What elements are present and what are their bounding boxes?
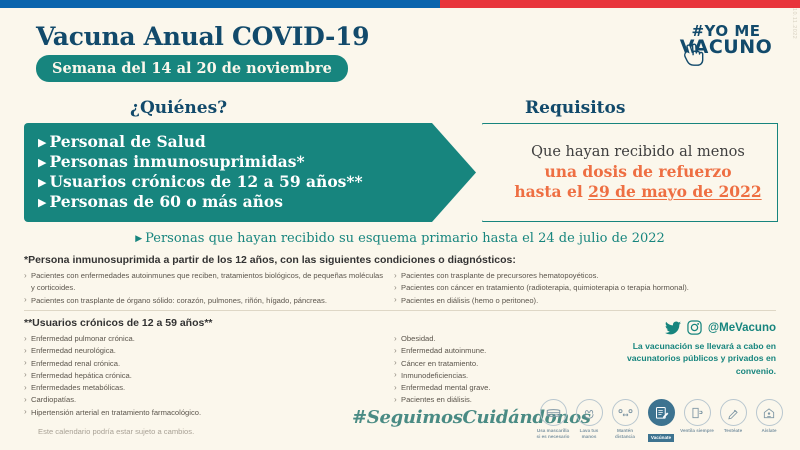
prevention-label-isolate: Aíslate: [752, 428, 786, 434]
arrow-bullet-icon: ▶: [38, 156, 46, 169]
quienes-list: ▶Personal de Salud ▶Personas inmunosupri…: [38, 132, 476, 213]
arrow-bullet-icon: ▶: [38, 176, 46, 189]
flag-bar: [0, 0, 800, 8]
list-item: Enfermedad mental grave.: [394, 382, 776, 394]
social-header: @MeVacuno: [616, 320, 776, 335]
prevention-item-test: Testéate: [716, 399, 750, 434]
prevention-item-vaccinate: Vacúnate: [644, 399, 678, 444]
prevention-item-distance: Mantén distancia: [608, 399, 642, 439]
ventilate-icon: [684, 399, 711, 426]
isolate-icon: [756, 399, 783, 426]
test-icon: [720, 399, 747, 426]
list-item: Pacientes con trasplante de órgano sólid…: [24, 295, 384, 307]
flag-blue-segment: [0, 0, 440, 8]
arrow-bullet-icon: ▶: [135, 234, 142, 244]
requisitos-line3-prefix: hasta el: [514, 182, 588, 201]
date-stamp: 10.11.2022: [791, 8, 797, 39]
footnote-divider: [24, 310, 776, 311]
vaccination-location-note: La vacunación se llevará a cabo en vacun…: [616, 340, 776, 377]
footnote-immuno-right-column: Pacientes con trasplante de precursores …: [394, 270, 776, 307]
footnote-immuno-columns: Pacientes con enfermedades autoinmunes q…: [24, 270, 776, 307]
distance-icon: [612, 399, 639, 426]
prevention-item-mask: Usa mascarilla si es necesario: [536, 399, 570, 439]
list-item: ▶Personal de Salud: [38, 132, 476, 152]
quienes-heading: ¿Quiénes?: [130, 98, 227, 118]
quienes-item-3: Personas de 60 o más años: [49, 192, 283, 211]
footnote-immuno-left-column: Pacientes con enfermedades autoinmunes q…: [24, 270, 384, 307]
list-item: Enfermedad renal crónica.: [24, 358, 384, 370]
list-item: Pacientes en diálisis (hemo o peritoneo)…: [394, 295, 776, 307]
mask-icon: [540, 399, 567, 426]
list-item: ▶Usuarios crónicos de 12 a 59 años**: [38, 172, 476, 192]
quienes-item-2: Usuarios crónicos de 12 a 59 años**: [49, 172, 362, 191]
yo-me-vacuno-logo: #YO ME VACUNO: [674, 24, 778, 57]
primary-scheme-note: ▶Personas que hayan recibido su esquema …: [0, 231, 800, 246]
requisitos-deadline-date: 29 de mayo de 2022: [588, 182, 761, 201]
requisitos-line2: una dosis de refuerzo: [544, 162, 731, 182]
list-item: ▶Personas de 60 o más años: [38, 192, 476, 212]
prevention-label-wash-hands: Lava tus manos: [572, 428, 606, 439]
prevention-icon-row: Usa mascarilla si es necesario Lava tus …: [536, 399, 786, 444]
vaccinate-icon: [648, 399, 675, 426]
week-badge: Semana del 14 al 20 de noviembre: [36, 55, 348, 82]
list-item: Enfermedad hepática crónica.: [24, 370, 384, 382]
social-handle[interactable]: @MeVacuno: [708, 322, 776, 334]
prevention-label-ventilate: Ventila siempre: [680, 428, 714, 434]
arrow-bullet-icon: ▶: [38, 136, 46, 149]
quienes-arrow-panel: ▶Personal de Salud ▶Personas inmunosupri…: [24, 123, 476, 222]
page-title: Vacuna Anual COVID-19: [36, 22, 369, 51]
footnote-chronic-left-column: Enfermedad pulmonar crónica. Enfermedad …: [24, 333, 384, 419]
footnote-immuno-title: *Persona inmunosuprimida a partir de los…: [24, 254, 776, 266]
requisitos-box: Que hayan recibido al menos una dosis de…: [482, 123, 778, 222]
prevention-item-wash-hands: Lava tus manos: [572, 399, 606, 439]
list-item: Enfermedad neurológica.: [24, 345, 384, 357]
list-item: ▶Personas inmunosuprimidas*: [38, 152, 476, 172]
quienes-item-1: Personas inmunosuprimidas*: [49, 152, 304, 171]
instagram-icon[interactable]: [687, 320, 702, 335]
list-item: Pacientes con trasplante de precursores …: [394, 270, 776, 282]
prevention-item-isolate: Aíslate: [752, 399, 786, 434]
list-item: Cardiopatías.: [24, 394, 384, 406]
prevention-item-ventilate: Ventila siempre: [680, 399, 714, 434]
wash-hands-icon: [576, 399, 603, 426]
list-item: Enfermedades metabólicas.: [24, 382, 384, 394]
requisitos-heading: Requisitos: [525, 98, 625, 118]
footnote-immuno-right-list: Pacientes con trasplante de precursores …: [394, 270, 776, 307]
list-item: Hipertensión arterial en tratamiento far…: [24, 407, 384, 419]
prevention-label-test: Testéate: [716, 428, 750, 434]
social-block: @MeVacuno La vacunación se llevará a cab…: [616, 320, 776, 377]
peace-hand-icon: [680, 38, 710, 68]
primary-scheme-text: Personas que hayan recibido su esquema p…: [145, 231, 665, 246]
flag-red-segment: [440, 0, 800, 8]
prevention-label-distance: Mantén distancia: [608, 428, 642, 439]
requisitos-line3: hasta el 29 de mayo de 2022: [514, 182, 761, 202]
calendar-disclaimer: Este calendario podría estar sujeto a ca…: [38, 427, 194, 436]
footnote-immuno: *Persona inmunosuprimida a partir de los…: [24, 254, 776, 307]
twitter-icon[interactable]: [665, 321, 681, 335]
footnote-chronic-left-list: Enfermedad pulmonar crónica. Enfermedad …: [24, 333, 384, 419]
list-item: Pacientes con cáncer en tratamiento (rad…: [394, 282, 776, 294]
list-item: Pacientes con enfermedades autoinmunes q…: [24, 270, 384, 295]
arrow-bullet-icon: ▶: [38, 196, 46, 209]
footnote-immuno-left-list: Pacientes con enfermedades autoinmunes q…: [24, 270, 384, 307]
prevention-label-vaccinate: Vacúnate: [648, 434, 674, 442]
prevention-label-mask: Usa mascarilla si es necesario: [536, 428, 570, 439]
quienes-item-0: Personal de Salud: [49, 132, 205, 151]
requisitos-line1: Que hayan recibido al menos: [531, 143, 745, 163]
list-item: Enfermedad pulmonar crónica.: [24, 333, 384, 345]
